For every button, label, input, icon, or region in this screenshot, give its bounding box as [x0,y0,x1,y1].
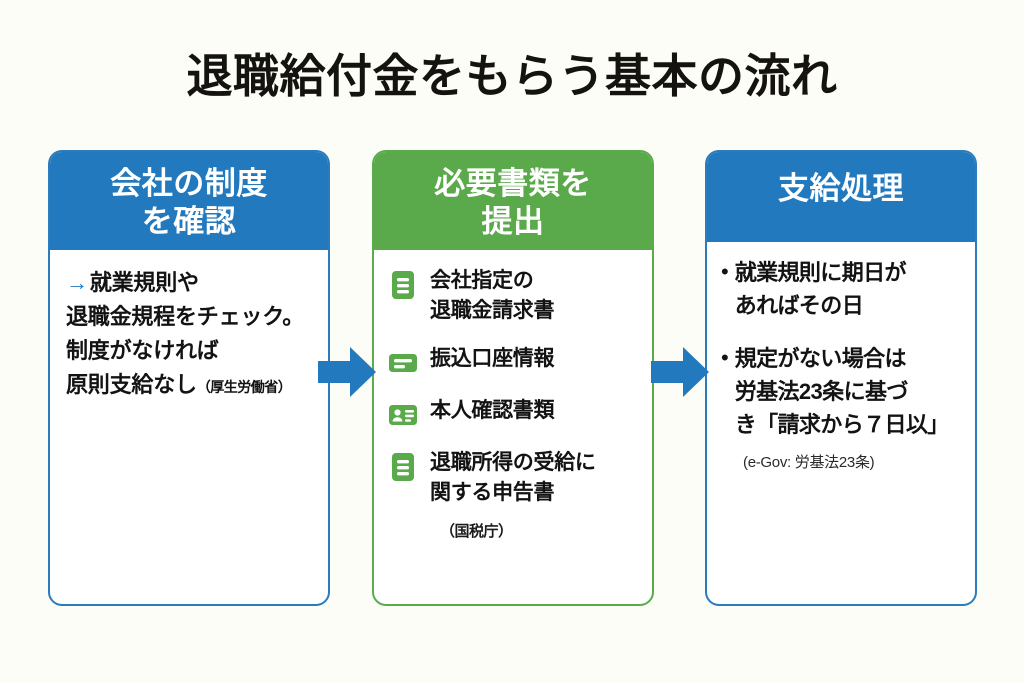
bullet-1-line-2: あればその日 [735,293,863,318]
flow-step-card-1: 会社の制度 を確認 →就業規則や 退職金規程をチェック。 制度がなければ 原則支… [48,150,330,606]
document-4-line-2: 関する申告書 [430,481,554,504]
bullet-2-line-3: き「請求から７日以」 [735,412,949,437]
step-1-line-4-text: 原則支給なし [66,372,197,397]
list-item: • 就業規則に期日が あればその日 [721,256,963,322]
document-3-line-1: 本人確認書類 [430,399,554,422]
step-2-header: 必要書類を 提出 [374,152,652,250]
arrow-marker-icon: → [66,270,88,295]
payment-conditions-list: • 就業規則に期日が あればその日 • 規定がない場合は 労基法23条に基づ き… [721,256,963,441]
step-2-header-line-1: 必要書類を [380,165,646,203]
document-label-4: 退職所得の受給に 関する申告書 [430,448,596,508]
bullet-2-line-2: 労基法23条に基づ [735,379,908,404]
list-item: 会社指定の 退職金請求書 [388,266,642,326]
step-1-source: （厚生労働省） [197,379,292,395]
id-card-icon [388,400,418,430]
step-1-header: 会社の制度 を確認 [50,152,328,250]
document-2-line-1: 振込口座情報 [430,347,554,370]
step-1-body-line-4: 原則支給なし（厚生労働省） [66,368,314,404]
document-label-3: 本人確認書類 [430,396,554,426]
page-title: 退職給付金をもらう基本の流れ [0,47,1024,105]
step-1-body: →就業規則や 退職金規程をチェック。 制度がなければ 原則支給なし（厚生労働省） [50,250,328,414]
document-4-line-1: 退職所得の受給に [430,451,596,474]
step-1-header-line-1: 会社の制度 [56,165,322,203]
step-1-header-line-2: を確認 [56,203,322,241]
step-1-body-line-3: 制度がなければ [66,334,314,368]
bullet-dot-icon: • [721,342,729,374]
step-2-source: （国税庁） [388,520,642,541]
step-3-header: 支給処理 [707,152,975,242]
document-label-2: 振込口座情報 [430,344,554,374]
step-2-body: 会社指定の 退職金請求書 振込口座情報 [374,250,652,551]
step-1-body-line-1: →就業規則や [66,266,314,300]
step-2-header-line-2: 提出 [380,203,646,241]
step-3-source: (e-Gov: 労基法23条) [721,451,963,472]
step-3-header-line-1: 支給処理 [713,170,969,208]
document-lines-icon [388,452,418,482]
document-label-1: 会社指定の 退職金請求書 [430,266,554,326]
required-documents-list: 会社指定の 退職金請求書 振込口座情報 [388,266,642,508]
bullet-label-2: 規定がない場合は 労基法23条に基づ き「請求から７日以」 [735,342,949,441]
flow-step-card-3: 支給処理 • 就業規則に期日が あればその日 • 規定がない場合は 労基法23条… [705,150,977,606]
bullet-dot-icon: • [721,256,729,288]
arrow-step1-to-step2-icon [318,345,376,399]
step-1-body-line-2: 退職金規程をチェック。 [66,300,314,334]
document-1-line-1: 会社指定の [430,269,534,292]
bullet-2-line-1: 規定がない場合は [735,346,906,371]
arrow-step2-to-step3-icon [651,345,709,399]
bank-card-icon [388,348,418,378]
bullet-1-line-1: 就業規則に期日が [735,260,906,285]
list-item: • 規定がない場合は 労基法23条に基づ き「請求から７日以」 [721,342,963,441]
document-lines-icon [388,270,418,300]
bullet-label-1: 就業規則に期日が あればその日 [735,256,906,322]
step-3-body: • 就業規則に期日が あればその日 • 規定がない場合は 労基法23条に基づ き… [707,242,975,482]
document-1-line-2: 退職金請求書 [430,299,554,322]
list-item: 退職所得の受給に 関する申告書 [388,448,642,508]
step-1-line-1-text: 就業規則や [90,270,199,295]
list-item: 振込口座情報 [388,344,642,378]
list-item: 本人確認書類 [388,396,642,430]
flow-step-card-2: 必要書類を 提出 会社指定の 退職金請求書 [372,150,654,606]
